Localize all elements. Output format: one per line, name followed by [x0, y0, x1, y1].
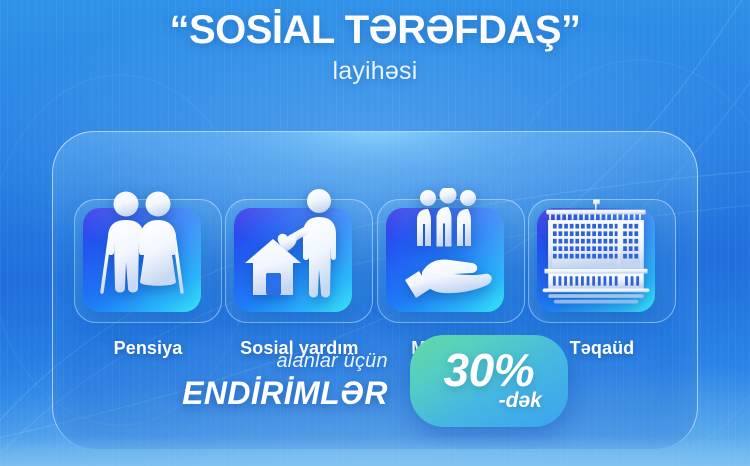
discount-suffix: -dək	[499, 389, 542, 413]
tile-surface	[234, 208, 352, 312]
tile-surface	[537, 208, 655, 312]
tile-frame	[225, 199, 373, 323]
government-building-icon	[537, 192, 655, 310]
main-glass-card: Pensiya	[52, 131, 698, 449]
promo-text-block: alanlar üçün ENDİRİMLƏR	[182, 350, 388, 412]
page-subtitle: layihəsi	[0, 57, 750, 86]
discount-percent: 30%	[444, 349, 535, 391]
tile-frame	[528, 199, 676, 323]
promo-line-2: ENDİRİMLƏR	[182, 375, 388, 412]
tile-surface	[83, 208, 201, 312]
tile-frame	[377, 199, 525, 323]
card-top-glow	[160, 131, 590, 190]
house-person-icon	[239, 187, 347, 309]
elderly-couple-icon	[90, 188, 194, 306]
hand-people-icon	[392, 188, 498, 312]
tile-frame	[74, 199, 222, 323]
promo-line-1: alanlar üçün	[182, 350, 388, 373]
page-title: “SOSİAL TƏRƏFDAŞ”	[0, 8, 750, 53]
promo-row: alanlar üçün ENDİRİMLƏR 30% -dək	[53, 335, 697, 427]
tile-surface	[386, 208, 504, 312]
header: “SOSİAL TƏRƏFDAŞ” layihəsi	[0, 8, 750, 86]
discount-badge[interactable]: 30% -dək	[410, 335, 568, 427]
